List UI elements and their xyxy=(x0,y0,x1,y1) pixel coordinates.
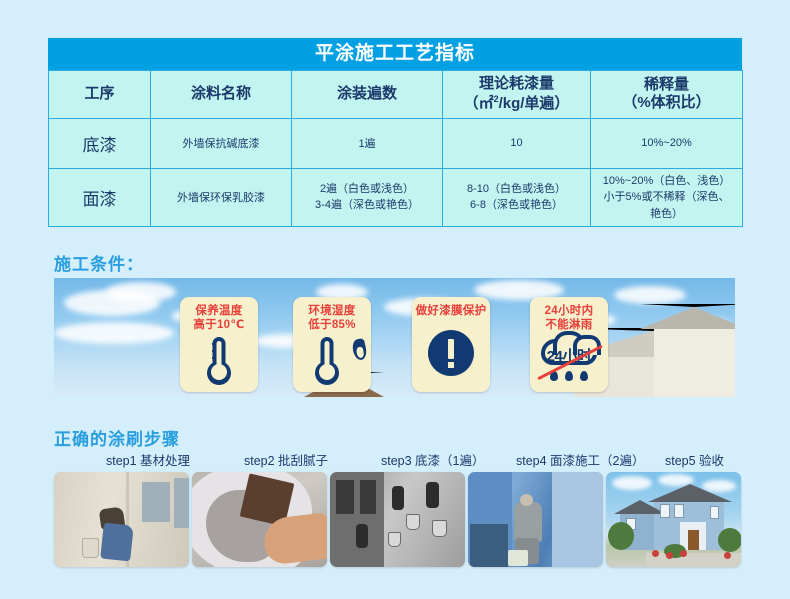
condition-card-no-rain: 24小时内 不能淋雨 24小时 xyxy=(530,297,608,392)
no-rain-cloud-icon: 24小时 xyxy=(530,335,608,387)
thermometer-flame-icon xyxy=(293,335,371,387)
cell-consumption-line: 6-8（深色或艳色） xyxy=(449,197,584,214)
condition-label-line1: 保养温度 xyxy=(180,304,258,318)
col-header-consumption: 理论耗漆量 （㎡2/kg/单遍） xyxy=(443,71,591,119)
table-row: 面漆 外墙保环保乳胶漆 2遍（白色或浅色） 3-4遍（深色或艳色） 8-10（白… xyxy=(49,168,743,227)
step-thumbnail-3[interactable] xyxy=(330,472,465,567)
house-shape xyxy=(654,325,735,397)
condition-card-humidity: 环境湿度 低于85% xyxy=(293,297,371,392)
cell-dilution: 10%~20% xyxy=(591,118,743,168)
condition-label: 做好漆膜保护 xyxy=(412,297,490,318)
spec-table-block: 平涂施工工艺指标 工序 涂料名称 涂装遍数 理论耗漆量 （㎡2/kg/单遍） 稀… xyxy=(48,38,742,227)
step-label-5: step5 验收 xyxy=(665,450,724,469)
cell-dilution-line: 10%~20%（白色、浅色） xyxy=(597,173,736,190)
condition-label: 保养温度 高于10℃ xyxy=(180,297,258,333)
col-header-dilution: 稀释量 （%体积比） xyxy=(591,71,743,119)
thermometer-icon xyxy=(180,335,258,387)
spec-table-title: 平涂施工工艺指标 xyxy=(48,38,742,70)
cell-consumption: 8-10（白色或浅色） 6-8（深色或艳色） xyxy=(443,168,591,227)
cell-coats: 1遍 xyxy=(292,118,443,168)
cloud-shape xyxy=(614,286,686,304)
conditions-sky-banner: 保养温度 高于10℃ 环境湿度 低于85% xyxy=(54,278,735,397)
cell-consumption-line: 8-10（白色或浅色） xyxy=(449,181,584,198)
cell-dilution-line: 小于5%或不稀释（深色、 xyxy=(597,189,736,206)
unit-prefix: （㎡ xyxy=(464,95,494,112)
step-thumbnail-2[interactable] xyxy=(192,472,327,567)
cell-process: 底漆 xyxy=(49,118,151,168)
unit-suffix: /kg/单遍） xyxy=(499,95,570,112)
roof-shape xyxy=(640,304,735,329)
condition-label-line2: 高于10℃ xyxy=(180,318,258,332)
conditions-heading: 施工条件： xyxy=(54,250,144,275)
exclamation-circle-icon xyxy=(412,328,490,380)
step-thumbnail-4[interactable] xyxy=(468,472,603,567)
col-header-paint-name: 涂料名称 xyxy=(151,71,292,119)
cell-dilution: 10%~20%（白色、浅色） 小于5%或不稀释（深色、 艳色） xyxy=(591,168,743,227)
cell-dilution-line: 艳色） xyxy=(597,206,736,223)
cloud-shape xyxy=(54,322,174,344)
condition-label: 24小时内 不能淋雨 xyxy=(530,297,608,333)
cell-process: 面漆 xyxy=(49,168,151,227)
step-label-1: step1 基材处理 xyxy=(106,450,190,469)
step-label-2: step2 批刮腻子 xyxy=(244,450,328,469)
cell-coats-line: 2遍（白色或浅色） xyxy=(298,181,436,198)
col-header-process: 工序 xyxy=(49,71,151,119)
col-header-dilution-line1: 稀释量 xyxy=(597,76,736,95)
step-label-4: step4 面漆施工（2遍） xyxy=(516,450,645,469)
condition-label-line1: 环境湿度 xyxy=(293,304,371,318)
col-header-dilution-line2: （%体积比） xyxy=(597,94,736,113)
condition-label: 环境湿度 低于85% xyxy=(293,297,371,333)
cell-paint-name: 外墙保抗碱底漆 xyxy=(151,118,292,168)
table-row: 底漆 外墙保抗碱底漆 1遍 10 10%~20% xyxy=(49,118,743,168)
step-thumbnail-1[interactable] xyxy=(54,472,189,567)
cell-consumption: 10 xyxy=(443,118,591,168)
cell-coats: 2遍（白色或浅色） 3-4遍（深色或艳色） xyxy=(292,168,443,227)
col-header-coats: 涂装遍数 xyxy=(292,71,443,119)
col-header-consumption-line2: （㎡2/kg/单遍） xyxy=(449,94,584,114)
condition-label-line2: 低于85% xyxy=(293,318,371,332)
cell-coats-line: 3-4遍（深色或艳色） xyxy=(298,197,436,214)
condition-label-line1: 24小时内 xyxy=(530,304,608,318)
spec-table: 工序 涂料名称 涂装遍数 理论耗漆量 （㎡2/kg/单遍） 稀释量 （%体积比）… xyxy=(48,70,743,227)
cloud-shape xyxy=(106,282,176,302)
table-header-row: 工序 涂料名称 涂装遍数 理论耗漆量 （㎡2/kg/单遍） 稀释量 （%体积比） xyxy=(49,71,743,119)
step-label-3: step3 底漆（1遍） xyxy=(381,450,485,469)
col-header-consumption-line1: 理论耗漆量 xyxy=(449,75,584,94)
condition-card-temperature: 保养温度 高于10℃ xyxy=(180,297,258,392)
condition-label-line1: 做好漆膜保护 xyxy=(412,304,490,318)
condition-card-film-protection: 做好漆膜保护 xyxy=(412,297,490,392)
cell-paint-name: 外墙保环保乳胶漆 xyxy=(151,168,292,227)
steps-heading: 正确的涂刷步骤 xyxy=(54,425,180,450)
step-thumbnail-5[interactable] xyxy=(606,472,741,567)
